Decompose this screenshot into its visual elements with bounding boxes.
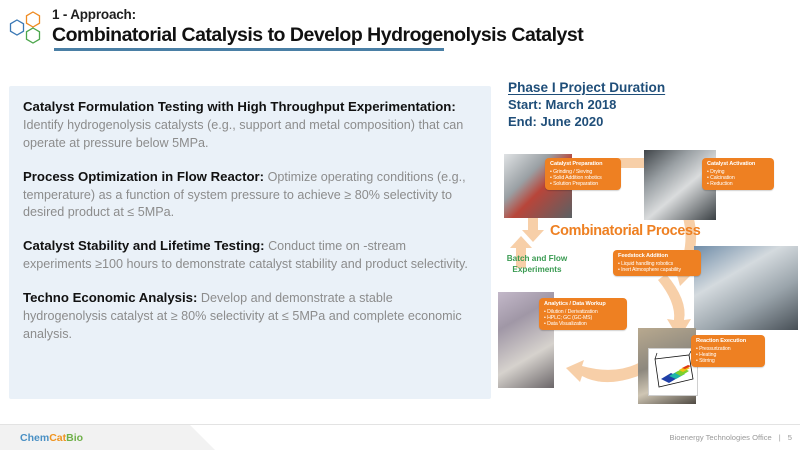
process-step-catalyst-activation[interactable]: Catalyst Activation Drying Calcination R… [702,158,774,190]
step-title: Analytics / Data Workup [544,301,623,308]
approach-item: Catalyst Formulation Testing with High T… [23,98,477,153]
approach-item-heading: Catalyst Formulation Testing with High T… [23,99,456,114]
phase-end-date: End: June 2020 [508,113,788,130]
step-item: Data Visualization [544,321,623,327]
approach-item-heading: Process Optimization in Flow Reactor: [23,169,264,184]
step-item: Inert Atmosphere capability [618,267,697,273]
step-item: Solution Preparation [550,181,617,187]
photo-feedstock-addition [694,246,798,330]
chemcatbio-wordmark: ChemCatBio [20,432,83,444]
step-title: Catalyst Activation [707,161,770,168]
phase-duration-title: Phase I Project Duration [508,80,788,95]
approach-item: Catalyst Stability and Lifetime Testing:… [23,237,477,274]
title-underline [54,48,444,51]
footer-separator: | [779,433,781,442]
page-number: 5 [788,433,792,442]
page-title: Combinatorial Catalysis to Develop Hydro… [52,24,583,47]
step-title: Feedstock Addition [618,253,697,260]
slide-kicker: 1 - Approach: [52,7,136,22]
chemcatbio-hexagons-icon [4,6,50,52]
combinatorial-process-label: Combinatorial Process [550,223,700,239]
footer-divider [0,424,800,425]
phase-start-date: Start: March 2018 [508,96,788,113]
process-step-reaction-execution[interactable]: Reaction Execution Pressurization Heatin… [691,335,765,367]
approach-item-body: Identify hydrogenolysis catalysts (e.g.,… [23,118,463,150]
batch-and-flow-label: Batch and Flow Experiments [500,254,574,275]
approach-item-heading: Catalyst Stability and Lifetime Testing: [23,238,265,253]
step-item: Stirring [696,358,761,364]
footer-meta: Bioenergy Technologies Office|5 [669,433,792,442]
approach-item: Techno Economic Analysis: Develop and de… [23,289,477,344]
brand-cat: Cat [49,432,66,444]
slide: 1 - Approach: Combinatorial Catalysis to… [0,0,800,450]
phase-duration-block: Phase I Project Duration Start: March 20… [508,80,788,130]
brand-chem: Chem [20,432,49,444]
process-step-analytics-data-workup[interactable]: Analytics / Data Workup Dilution / Deriv… [539,298,627,330]
brand-bio: Bio [66,432,83,444]
combinatorial-process-diagram: Catalyst Preparation Grinding / Sieving … [498,142,798,404]
approach-item: Process Optimization in Flow Reactor: Op… [23,168,477,223]
approach-panel: Catalyst Formulation Testing with High T… [9,86,491,399]
footer-office: Bioenergy Technologies Office [669,433,771,442]
step-title: Catalyst Preparation [550,161,617,168]
step-title: Reaction Execution [696,338,761,345]
process-step-feedstock-addition[interactable]: Feedstock Addition Liquid handling robot… [613,250,701,276]
approach-item-heading: Techno Economic Analysis: [23,290,197,305]
process-step-catalyst-preparation[interactable]: Catalyst Preparation Grinding / Sieving … [545,158,621,190]
surface-plot-icon [649,349,697,395]
step-item: Reduction [707,181,770,187]
